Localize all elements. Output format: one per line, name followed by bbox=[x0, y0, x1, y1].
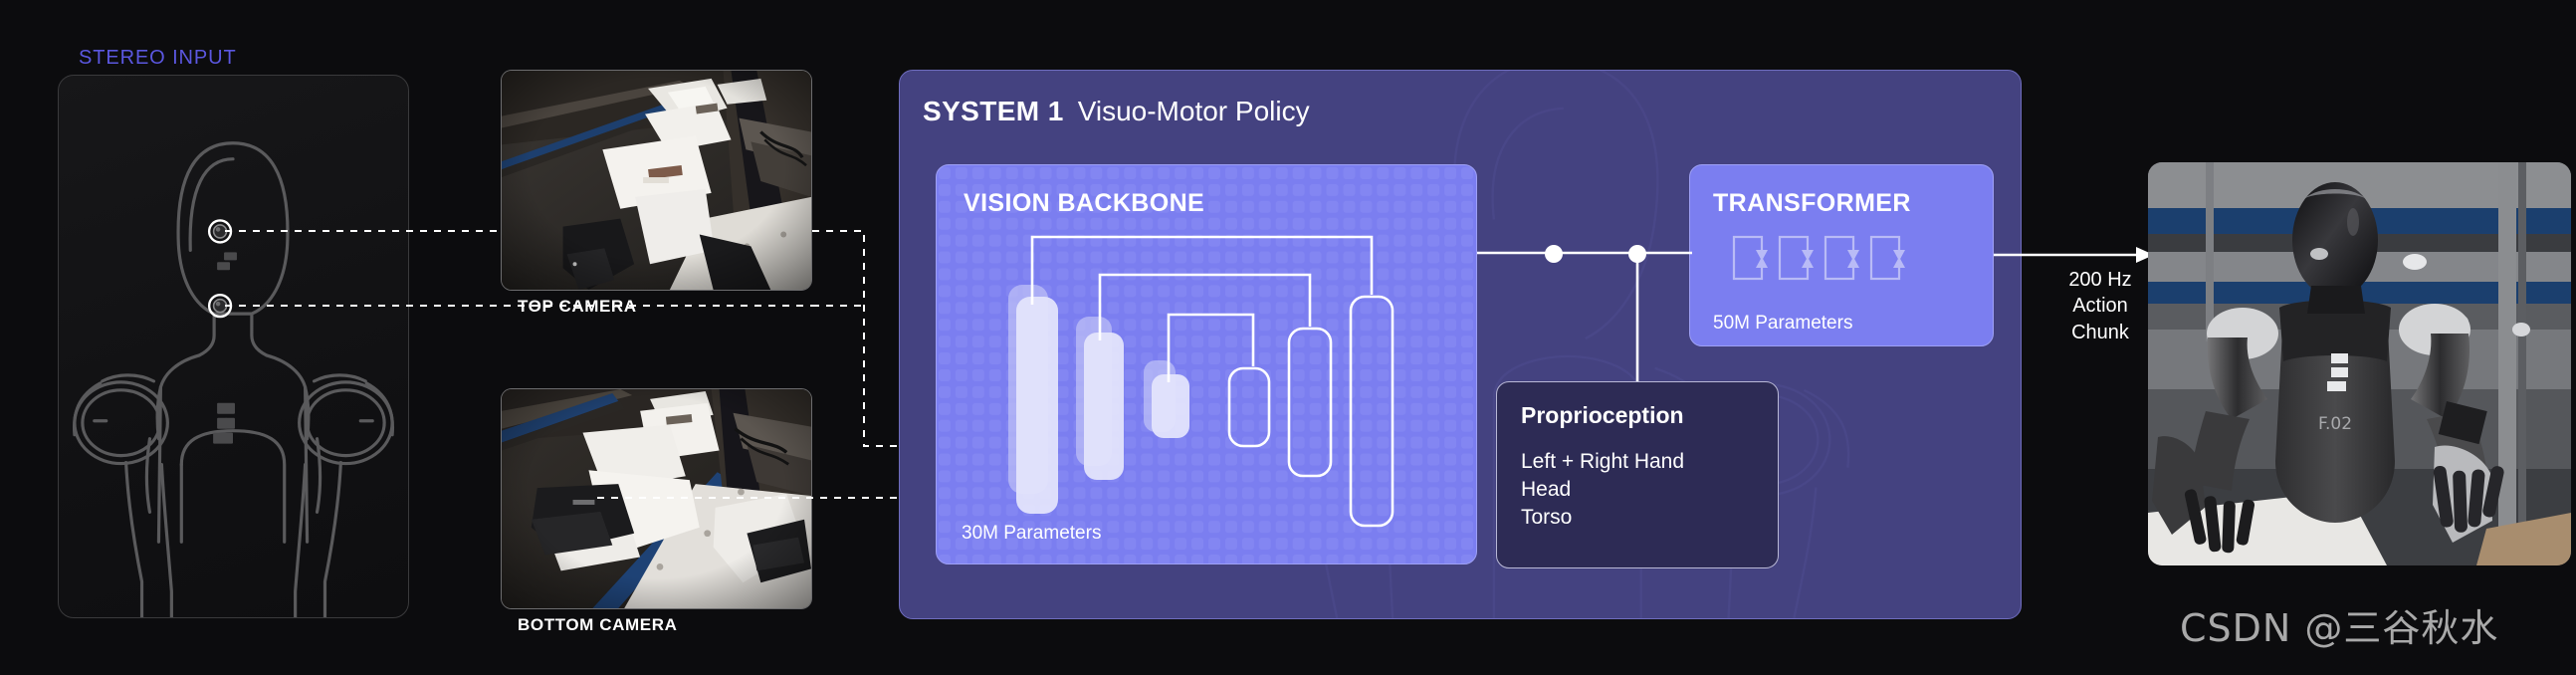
chest-logo-icon bbox=[213, 403, 235, 444]
diagram-canvas: STEREO INPUT bbox=[0, 0, 2576, 675]
bottom-camera-image bbox=[502, 389, 811, 608]
csdn-watermark: CSDN @三谷秋水 bbox=[2180, 597, 2498, 652]
system-1-title: SYSTEM 1Visuo-Motor Policy bbox=[923, 96, 1310, 127]
chunk-word: Chunk bbox=[2040, 320, 2160, 345]
transformer-parameters: 50M Parameters bbox=[1713, 313, 1852, 335]
top-camera-image bbox=[502, 71, 811, 290]
unet-architecture-icon bbox=[937, 165, 1477, 564]
stereo-input-label: STEREO INPUT bbox=[79, 47, 237, 70]
top-camera-label: TOP CAMERA bbox=[518, 297, 637, 317]
system-1-subtitle: Visuo-Motor Policy bbox=[1078, 96, 1310, 126]
bottom-camera-label: BOTTOM CAMERA bbox=[518, 615, 677, 635]
face-logo-icon bbox=[217, 252, 237, 270]
action-word: Action bbox=[2040, 293, 2160, 319]
robot-photo-image: F.02 bbox=[2148, 162, 2571, 565]
proprioception-items: Left + Right Hand Head Torso bbox=[1521, 448, 1684, 532]
robot-photo[interactable]: F.02 bbox=[2148, 162, 2571, 565]
vision-backbone-card[interactable] bbox=[936, 164, 1477, 564]
vision-backbone-title: VISION BACKBONE bbox=[964, 189, 1204, 218]
proprioception-item: Left + Right Hand bbox=[1521, 448, 1684, 476]
proprioception-item: Head bbox=[1521, 476, 1684, 504]
proprioception-title: Proprioception bbox=[1521, 402, 1684, 429]
top-camera-lens-icon bbox=[209, 220, 231, 242]
transformer-title: TRANSFORMER bbox=[1713, 189, 1911, 218]
vision-backbone-parameters: 30M Parameters bbox=[962, 523, 1101, 545]
top-camera-thumbnail[interactable] bbox=[501, 70, 812, 291]
action-chunk-label: 200 Hz Action Chunk bbox=[2040, 267, 2160, 345]
proprioception-item: Torso bbox=[1521, 504, 1684, 532]
action-rate: 200 Hz bbox=[2040, 267, 2160, 293]
system-1-name: SYSTEM 1 bbox=[923, 96, 1064, 126]
robot-outline-icon bbox=[59, 76, 408, 617]
robot-schematic-panel bbox=[58, 75, 409, 618]
bottom-camera-thumbnail[interactable] bbox=[501, 388, 812, 609]
svg-text:F.02: F.02 bbox=[2318, 414, 2352, 434]
